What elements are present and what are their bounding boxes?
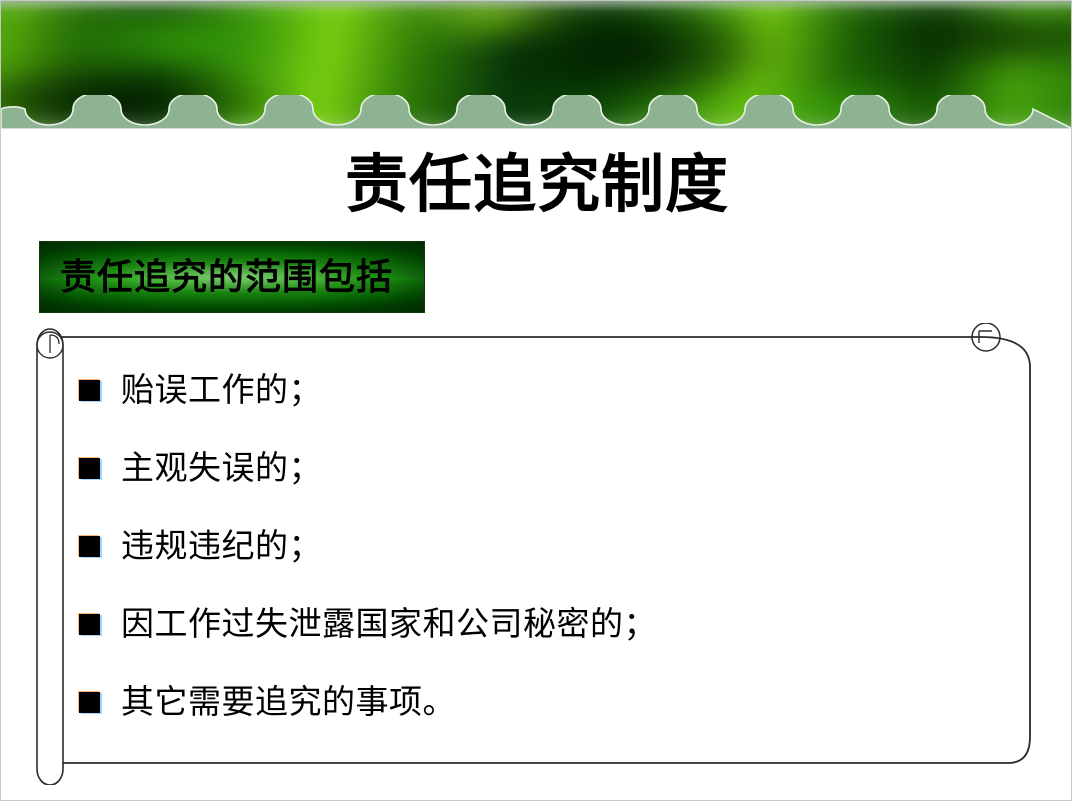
list-item-label: 其它需要追究的事项。 [121, 679, 456, 725]
scalloped-wave-band [1, 95, 1072, 129]
slide-title: 责任追究制度 [1, 149, 1072, 221]
presentation-slide: 责任追究制度 责任追究的范围包括 贻误工作的； 主观 [0, 0, 1072, 801]
list-item: 违规违纪的； [79, 523, 1009, 569]
list-item-label: 因工作过失泄露国家和公司秘密的； [121, 601, 657, 647]
square-bullet-icon [79, 536, 100, 557]
list-item-label: 贻误工作的； [121, 367, 322, 413]
square-bullet-icon [79, 692, 100, 713]
banner-top-fade [1, 1, 1072, 11]
section-heading-text: 责任追究的范围包括 [40, 257, 393, 297]
list-item: 主观失误的； [79, 445, 1009, 491]
bullet-list: 贻误工作的； 主观失误的； 违规违纪的； 因工作过失泄露国家和公司秘密的； 其它… [79, 367, 1009, 725]
header-banner [1, 1, 1072, 129]
section-heading-plaque: 责任追究的范围包括 [39, 241, 425, 313]
list-item: 其它需要追究的事项。 [79, 679, 1009, 725]
square-bullet-icon [79, 380, 100, 401]
list-item: 贻误工作的； [79, 367, 1009, 413]
list-item-label: 违规违纪的； [121, 523, 322, 569]
list-item-label: 主观失误的； [121, 445, 322, 491]
list-item: 因工作过失泄露国家和公司秘密的； [79, 601, 1009, 647]
content-scroll-frame: 贻误工作的； 主观失误的； 违规违纪的； 因工作过失泄露国家和公司秘密的； 其它… [23, 323, 1051, 785]
square-bullet-icon [79, 614, 100, 635]
square-bullet-icon [79, 458, 100, 479]
